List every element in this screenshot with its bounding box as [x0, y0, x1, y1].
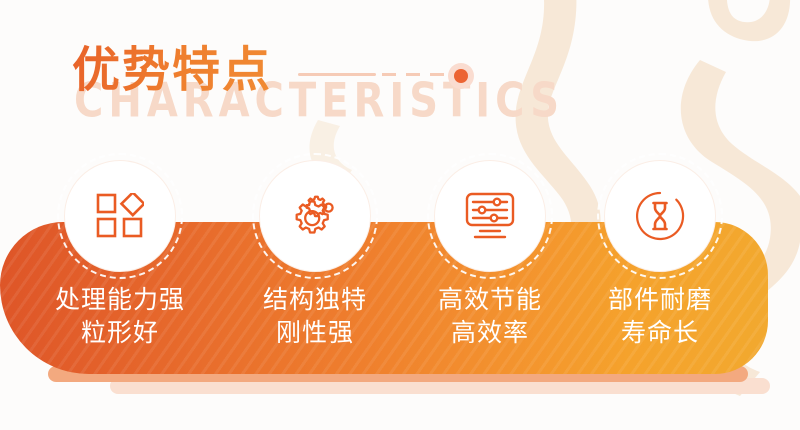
feature-icon-wrap	[434, 160, 546, 272]
grid-shapes-icon	[96, 193, 144, 239]
feature-icon-wrap	[64, 160, 176, 272]
feature-icon-circle	[434, 160, 546, 272]
feature-label: 处理能力强 粒形好	[30, 283, 210, 349]
feature-icon-circle	[259, 160, 371, 272]
feature-label: 结构独特 刚性强	[225, 283, 405, 349]
feature-label: 高效节能 高效率	[400, 283, 580, 349]
feature-item-structure[interactable]: 结构独特 刚性强	[225, 160, 405, 272]
hourglass-circle-icon	[635, 191, 685, 241]
feature-item-efficiency[interactable]: 高效节能 高效率	[400, 160, 580, 272]
feature-item-durability[interactable]: 部件耐磨 寿命长	[570, 160, 750, 272]
feature-icon-circle	[64, 160, 176, 272]
poster-canvas: CHARACTERISTICS 优势特点	[0, 0, 800, 430]
sliders-panel-icon	[464, 192, 516, 240]
feature-icon-wrap	[604, 160, 716, 272]
feature-label: 部件耐磨 寿命长	[570, 283, 750, 349]
features-list: 处理能力强 粒形好 结构独特 刚性强	[0, 0, 800, 430]
feature-icon-wrap	[259, 160, 371, 272]
gears-icon	[289, 193, 341, 239]
feature-icon-circle	[604, 160, 716, 272]
feature-item-processing[interactable]: 处理能力强 粒形好	[30, 160, 210, 272]
